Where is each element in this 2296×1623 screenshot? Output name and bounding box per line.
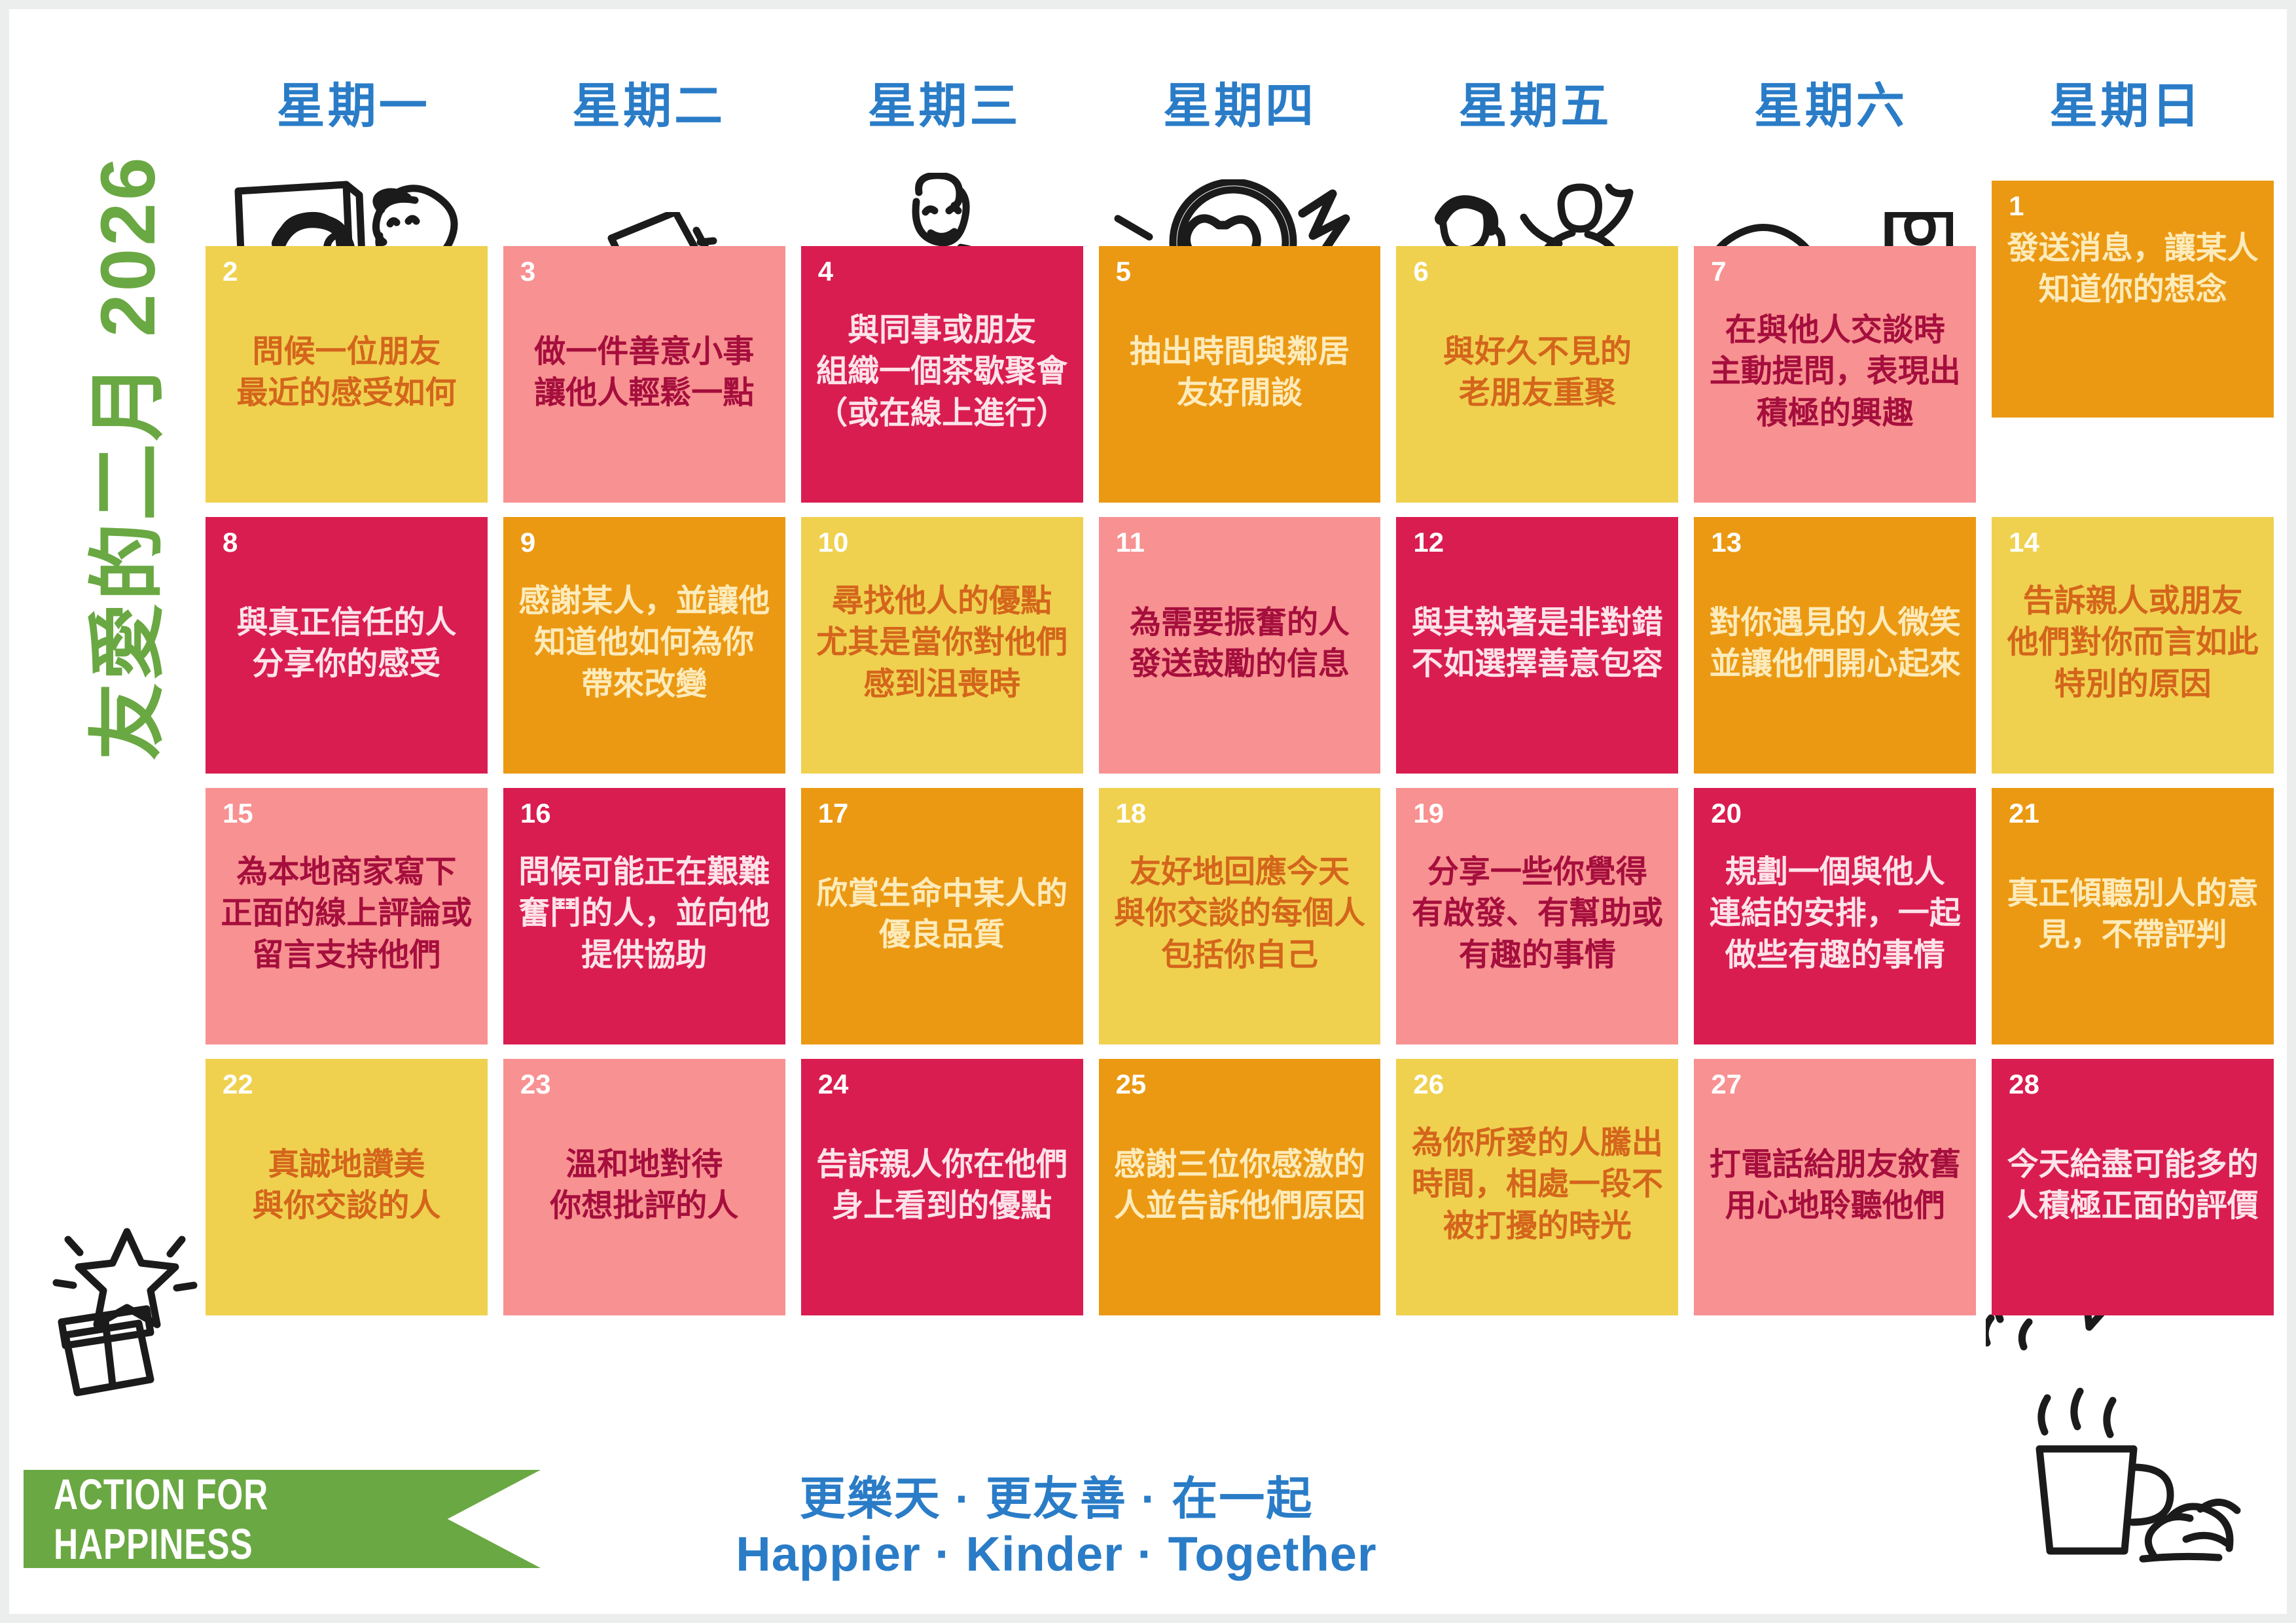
weekday-monday: 星期一 bbox=[206, 67, 501, 145]
day-number: 25 bbox=[1116, 1071, 1147, 1098]
day-action-text: 友好地回應今天 與你交談的每個人 包括你自己 bbox=[1107, 851, 1373, 976]
calendar-page: 星期一 星期二 星期三 星期四 星期五 星期六 星期日 友愛的二月 2026 bbox=[9, 9, 2287, 1614]
day-number: 21 bbox=[2009, 800, 2039, 827]
day-number: 9 bbox=[520, 529, 535, 556]
calendar-day-15[interactable]: 15 為本地商家寫下 正面的線上評論或 留言支持他們 bbox=[206, 788, 488, 1044]
weekday-saturday: 星期六 bbox=[1683, 67, 1978, 145]
day-action-text: 為你所愛的人騰出 時間，相處一段不 被打擾的時光 bbox=[1404, 1122, 1670, 1247]
weekday-header: 星期一 星期二 星期三 星期四 星期五 星期六 星期日 bbox=[206, 67, 2274, 145]
day-number: 2 bbox=[223, 258, 238, 285]
calendar-day-11[interactable]: 11 為需要振奮的人 發送鼓勵的信息 bbox=[1099, 517, 1381, 774]
tagline-english: Happier · Kinder · Together bbox=[664, 1526, 1449, 1582]
day-action-text: 欣賞生命中某人的 優良品質 bbox=[809, 873, 1075, 956]
calendar-day-6[interactable]: 6 與好久不見的 老朋友重聚 bbox=[1396, 246, 1678, 503]
day-number: 6 bbox=[1413, 258, 1428, 285]
month-title: 友愛的二月 2026 bbox=[78, 150, 163, 765]
day-number: 13 bbox=[1711, 529, 1742, 556]
day-action-text: 問候一位朋友 最近的感受如何 bbox=[213, 331, 480, 414]
grid-spacer bbox=[206, 181, 488, 232]
day-action-text: 與真正信任的人 分享你的感受 bbox=[213, 602, 480, 685]
day-number: 20 bbox=[1711, 800, 1742, 827]
calendar-day-10[interactable]: 10 尋找他人的優點 尤其是當你對他們 感到沮喪時 bbox=[801, 517, 1083, 774]
day-action-text: 真正傾聽別人的意 見，不帶評判 bbox=[2000, 873, 2266, 956]
day-number: 17 bbox=[818, 800, 849, 827]
day-number: 19 bbox=[1413, 800, 1444, 827]
grid-spacer bbox=[1396, 181, 1678, 232]
weekday-friday: 星期五 bbox=[1388, 67, 1683, 145]
grid-spacer bbox=[801, 181, 1083, 232]
day-number: 3 bbox=[520, 258, 535, 285]
calendar-day-18[interactable]: 18 友好地回應今天 與你交談的每個人 包括你自己 bbox=[1099, 788, 1381, 1044]
calendar-day-19[interactable]: 19 分享一些你覺得 有啟發、有幫助或 有趣的事情 bbox=[1396, 788, 1678, 1044]
day-action-text: 告訴親人你在他們 身上看到的優點 bbox=[809, 1144, 1075, 1227]
calendar-day-13[interactable]: 13 對你遇見的人微笑 並讓他們開心起來 bbox=[1694, 517, 1976, 774]
calendar-day-2[interactable]: 2 問候一位朋友 最近的感受如何 bbox=[206, 246, 488, 503]
calendar-day-5[interactable]: 5 抽出時間與鄰居 友好閒談 bbox=[1099, 246, 1381, 503]
day-action-text: 真誠地讚美 與你交談的人 bbox=[213, 1144, 480, 1227]
calendar-day-28[interactable]: 28 今天給盡可能多的 人積極正面的評價 bbox=[1992, 1059, 2274, 1315]
brand-label: ACTION FOR HAPPINESS bbox=[54, 1469, 433, 1569]
day-action-text: 在與他人交談時 主動提問，表現出 積極的興趣 bbox=[1702, 310, 1968, 434]
grid-spacer bbox=[1694, 181, 1976, 232]
calendar-day-22[interactable]: 22 真誠地讚美 與你交談的人 bbox=[206, 1059, 488, 1315]
day-number: 23 bbox=[520, 1071, 551, 1098]
grid-spacer bbox=[503, 181, 785, 232]
day-number: 11 bbox=[1116, 529, 1145, 556]
day-number: 18 bbox=[1116, 800, 1147, 827]
tagline-chinese: 更樂天 · 更友善 · 在一起 bbox=[664, 1462, 1449, 1528]
day-action-text: 分享一些你覺得 有啟發、有幫助或 有趣的事情 bbox=[1404, 851, 1670, 976]
day-number: 14 bbox=[2009, 529, 2039, 556]
calendar-day-14[interactable]: 14 告訴親人或朋友 他們對你而言如此 特別的原因 bbox=[1992, 517, 2274, 774]
day-number: 24 bbox=[818, 1071, 849, 1098]
day-action-text: 抽出時間與鄰居 友好閒談 bbox=[1107, 331, 1373, 414]
calendar-day-21[interactable]: 21 真正傾聽別人的意 見，不帶評判 bbox=[1992, 788, 2274, 1044]
day-action-text: 告訴親人或朋友 他們對你而言如此 特別的原因 bbox=[2000, 580, 2266, 705]
calendar-day-12[interactable]: 12 與其執著是非對錯 不如選擇善意包容 bbox=[1396, 517, 1678, 774]
calendar-day-4[interactable]: 4 與同事或朋友 組織一個茶歇聚會 （或在線上進行） bbox=[801, 246, 1083, 503]
day-action-text: 發送消息，讓某人 知道你的想念 bbox=[2000, 228, 2266, 311]
day-action-text: 為需要振奮的人 發送鼓勵的信息 bbox=[1107, 602, 1373, 685]
weekday-thursday: 星期四 bbox=[1092, 67, 1387, 145]
day-number: 22 bbox=[223, 1071, 253, 1098]
day-action-text: 感謝某人，並讓他 知道他如何為你 帶來改變 bbox=[511, 580, 778, 705]
grid-spacer bbox=[1099, 181, 1381, 232]
day-number: 1 bbox=[2009, 192, 2024, 220]
calendar-day-27[interactable]: 27 打電話給朋友敘舊 用心地聆聽他們 bbox=[1694, 1059, 1976, 1315]
day-number: 28 bbox=[2009, 1071, 2039, 1098]
calendar-grid: 1 發送消息，讓某人 知道你的想念 2 問候一位朋友 最近的感受如何 3 做一件… bbox=[206, 181, 2274, 1483]
calendar-day-3[interactable]: 3 做一件善意小事 讓他人輕鬆一點 bbox=[503, 246, 785, 503]
star-gift-box-doodle bbox=[42, 1220, 212, 1410]
day-number: 16 bbox=[520, 800, 551, 827]
day-action-text: 溫和地對待 你想批評的人 bbox=[511, 1144, 778, 1227]
day-action-text: 與好久不見的 老朋友重聚 bbox=[1404, 331, 1670, 414]
day-action-text: 對你遇見的人微笑 並讓他們開心起來 bbox=[1702, 602, 1968, 685]
footer: ACTION FOR HAPPINESS 更樂天 · 更友善 · 在一起 Hap… bbox=[9, 1458, 2287, 1596]
day-number: 5 bbox=[1116, 258, 1131, 285]
day-number: 12 bbox=[1413, 529, 1444, 556]
day-number: 7 bbox=[1711, 258, 1726, 285]
day-action-text: 與其執著是非對錯 不如選擇善意包容 bbox=[1404, 602, 1670, 685]
calendar-day-20[interactable]: 20 規劃一個與他人 連結的安排，一起 做些有趣的事情 bbox=[1694, 788, 1976, 1044]
day-number: 4 bbox=[818, 258, 833, 285]
day-action-text: 做一件善意小事 讓他人輕鬆一點 bbox=[511, 331, 778, 414]
calendar-day-23[interactable]: 23 溫和地對待 你想批評的人 bbox=[503, 1059, 785, 1315]
calendar-day-25[interactable]: 25 感謝三位你感激的 人並告訴他們原因 bbox=[1099, 1059, 1381, 1315]
day-number: 8 bbox=[223, 529, 238, 556]
day-action-text: 為本地商家寫下 正面的線上評論或 留言支持他們 bbox=[213, 851, 480, 976]
weekday-sunday: 星期日 bbox=[1979, 67, 2274, 145]
day-action-text: 今天給盡可能多的 人積極正面的評價 bbox=[2000, 1144, 2266, 1227]
weekday-tuesday: 星期二 bbox=[501, 67, 796, 145]
calendar-day-9[interactable]: 9 感謝某人，並讓他 知道他如何為你 帶來改變 bbox=[503, 517, 785, 774]
day-action-text: 與同事或朋友 組織一個茶歇聚會 （或在線上進行） bbox=[809, 310, 1075, 434]
day-action-text: 規劃一個與他人 連結的安排，一起 做些有趣的事情 bbox=[1702, 851, 1968, 976]
calendar-day-24[interactable]: 24 告訴親人你在他們 身上看到的優點 bbox=[801, 1059, 1083, 1315]
day-action-text: 問候可能正在艱難 奮鬥的人，並向他 提供協助 bbox=[511, 851, 778, 976]
day-action-text: 感謝三位你感激的 人並告訴他們原因 bbox=[1107, 1144, 1373, 1227]
day-number: 26 bbox=[1413, 1071, 1444, 1098]
day-number: 10 bbox=[818, 529, 849, 556]
weekday-wednesday: 星期三 bbox=[797, 67, 1092, 145]
calendar-day-1[interactable]: 1 發送消息，讓某人 知道你的想念 bbox=[1992, 181, 2274, 418]
day-number: 15 bbox=[223, 800, 253, 827]
day-action-text: 打電話給朋友敘舊 用心地聆聽他們 bbox=[1702, 1144, 1968, 1227]
day-number: 27 bbox=[1711, 1071, 1742, 1098]
action-for-happiness-banner[interactable]: ACTION FOR HAPPINESS bbox=[24, 1470, 541, 1568]
calendar-day-7[interactable]: 7 在與他人交談時 主動提問，表現出 積極的興趣 bbox=[1694, 246, 1976, 503]
calendar-day-16[interactable]: 16 問候可能正在艱難 奮鬥的人，並向他 提供協助 bbox=[503, 788, 785, 1044]
calendar-day-17[interactable]: 17 欣賞生命中某人的 優良品質 bbox=[801, 788, 1083, 1044]
calendar-day-26[interactable]: 26 為你所愛的人騰出 時間，相處一段不 被打擾的時光 bbox=[1396, 1059, 1678, 1315]
calendar-day-8[interactable]: 8 與真正信任的人 分享你的感受 bbox=[206, 517, 488, 774]
day-action-text: 尋找他人的優點 尤其是當你對他們 感到沮喪時 bbox=[809, 580, 1075, 705]
